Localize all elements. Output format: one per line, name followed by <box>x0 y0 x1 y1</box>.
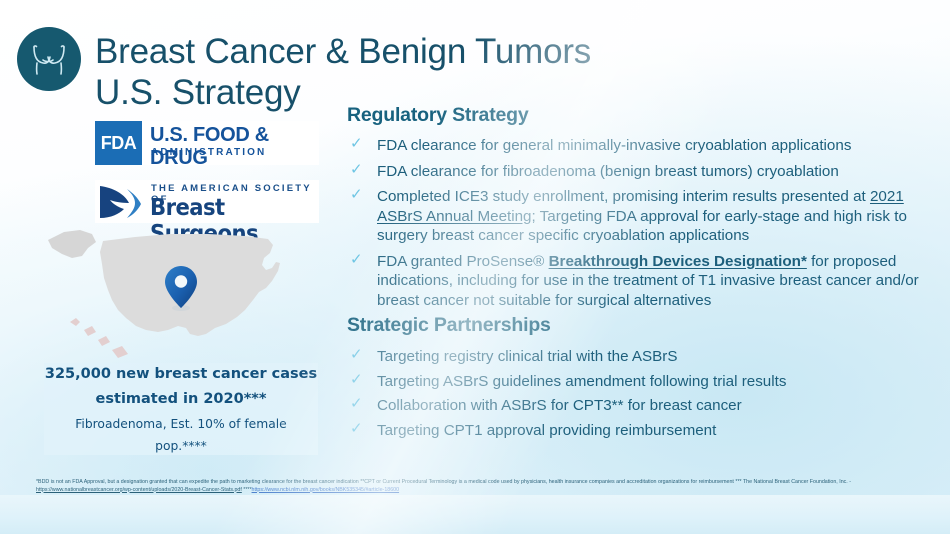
asbrs-logo: THE AMERICAN SOCIETY OF Breast Surgeons <box>95 180 319 223</box>
list-item: ✓FDA clearance for fibroadenoma (benign … <box>347 162 942 182</box>
section-heading-strategic-partnerships: Strategic Partnerships <box>347 314 551 337</box>
page-title: Breast Cancer & Benign Tumors U.S. Strat… <box>95 31 715 113</box>
stat-sub-line2: pop.**** <box>155 436 207 456</box>
list-item-text: Targeting CPT1 approval providing reimbu… <box>377 422 716 439</box>
check-icon: ✓ <box>350 137 364 151</box>
footnote-text: *BDD is not an FDA Approval, but a desig… <box>36 479 851 485</box>
fda-logo: FDA U.S. FOOD & DRUG ADMINISTRATION <box>95 121 319 165</box>
slide: Breast Cancer & Benign Tumors U.S. Strat… <box>0 0 950 534</box>
footnote: *BDD is not an FDA Approval, but a desig… <box>36 479 854 494</box>
check-icon: ✓ <box>350 397 364 411</box>
check-icon: ✓ <box>350 163 364 177</box>
stat-headline-line1: 325,000 new breast cancer cases <box>45 362 317 387</box>
list-item-text: FDA clearance for general minimally-inva… <box>377 137 851 154</box>
check-icon: ✓ <box>350 422 364 436</box>
page-title-line1: Breast Cancer & Benign Tumors <box>95 32 591 71</box>
fda-badge: FDA <box>95 121 142 165</box>
list-item: ✓Targeting CPT1 approval providing reimb… <box>347 421 942 441</box>
location-pin-icon <box>162 264 200 312</box>
list-item-text: Targeting registry clinical trial with t… <box>377 348 678 365</box>
list-item-text: Targeting ASBrS guidelines amendment fol… <box>377 373 786 390</box>
list-item: ✓FDA granted ProSense® Breakthrough Devi… <box>347 252 942 311</box>
footer-bar: Nasdaq & TASE: ICCM IceCure Innovating C… <box>0 495 950 534</box>
list-item-emphasis[interactable]: Breakthrough Devices Designation* <box>549 253 807 270</box>
list-item: ✓Collaboration with ASBrS for CPT3** for… <box>347 396 942 416</box>
list-item-text: Collaboration with ASBrS for CPT3** for … <box>377 397 742 414</box>
list-item: ✓FDA clearance for general minimally-inv… <box>347 136 942 156</box>
section-heading-regulatory-strategy: Regulatory Strategy <box>347 104 529 127</box>
list-item: ✓Targeting registry clinical trial with … <box>347 347 942 367</box>
regulatory-strategy-list: ✓FDA clearance for general minimally-inv… <box>347 136 942 316</box>
strategic-partnerships-list: ✓Targeting registry clinical trial with … <box>347 347 942 445</box>
list-item: ✓Completed ICE3 study enrollment, promis… <box>347 187 942 246</box>
check-icon: ✓ <box>350 373 364 387</box>
fda-logo-line2: ADMINISTRATION <box>151 147 266 158</box>
asbrs-mark-icon <box>97 183 143 221</box>
check-icon: ✓ <box>350 348 364 362</box>
breast-bra-icon <box>17 27 81 91</box>
list-item-text: FDA clearance for fibroadenoma (benign b… <box>377 163 839 180</box>
stat-headline-line2: estimated in 2020*** <box>96 387 267 412</box>
list-item-text: FDA granted ProSense® <box>377 253 549 270</box>
footnote-link-2[interactable]: https://www.ncbi.nlm.nih.gov/books/NBK53… <box>252 487 400 493</box>
footnote-link-1[interactable]: https://www.nationalbreastcancer.org/wp-… <box>36 487 242 493</box>
check-icon: ✓ <box>350 188 364 202</box>
list-item-text: Completed ICE3 study enrollment, promisi… <box>377 188 870 205</box>
list-item: ✓Targeting ASBrS guidelines amendment fo… <box>347 372 942 392</box>
stat-sub-line1: Fibroadenoma, Est. 10% of female <box>75 414 286 434</box>
footnote-mid: **** <box>242 487 252 493</box>
check-icon: ✓ <box>350 253 364 267</box>
stat-box: 325,000 new breast cancer cases estimate… <box>44 363 318 455</box>
